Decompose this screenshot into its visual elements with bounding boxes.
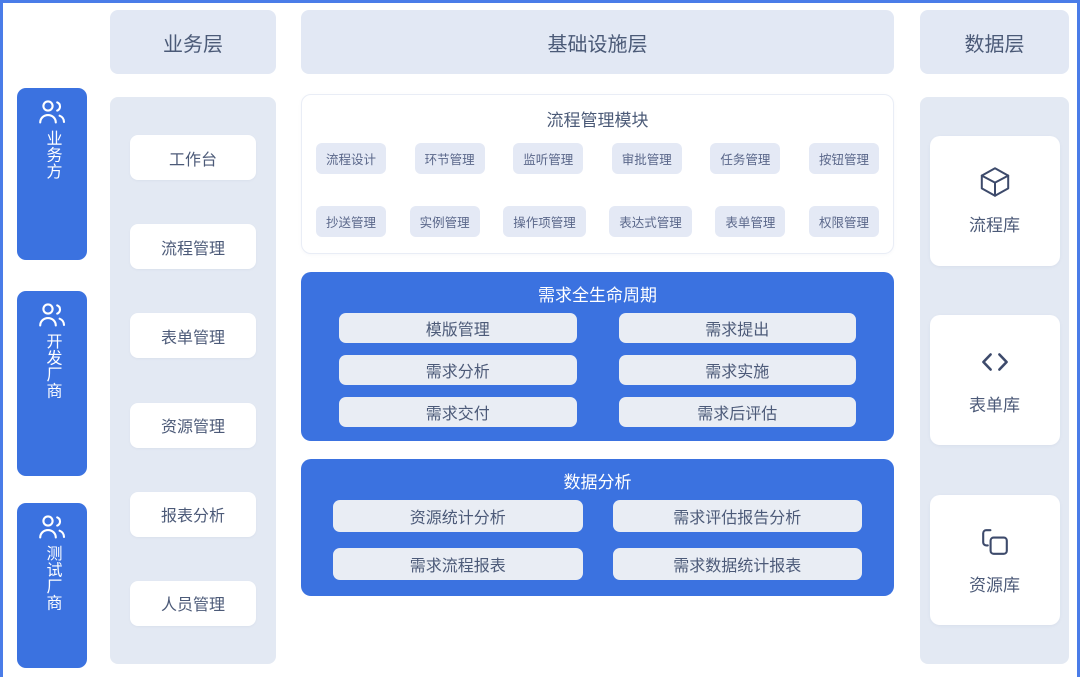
data-analysis-title: 数据分析 (333, 468, 862, 493)
users-icon (37, 514, 67, 540)
requirement-lifecycle-items: 模版管理 需求提出 需求分析 需求实施 需求交付 需求后评估 (339, 313, 856, 427)
process-management-module-title: 流程管理模块 (316, 106, 879, 131)
chip-approval-management[interactable]: 审批管理 (612, 143, 682, 174)
business-layer-items: 工作台 流程管理 表单管理 资源管理 报表分析 人员管理 (110, 97, 276, 664)
architecture-diagram: 业务方 开发厂商 测试厂商 (0, 0, 1080, 677)
lifecycle-item-requirement-delivery[interactable]: 需求交付 (339, 397, 577, 427)
data-analysis-items: 资源统计分析 需求评估报告分析 需求流程报表 需求数据统计报表 (333, 500, 862, 580)
chip-form-management[interactable]: 表单管理 (715, 206, 785, 237)
lifecycle-item-label: 需求提出 (705, 316, 769, 340)
business-item-form-management[interactable]: 表单管理 (130, 313, 256, 358)
data-item-form-repository[interactable]: 表单库 (930, 315, 1060, 445)
actor-label: 业务方 (41, 130, 62, 180)
requirement-lifecycle-panel: 需求全生命周期 模版管理 需求提出 需求分析 需求实施 需求交付 (301, 272, 894, 441)
data-item-label: 资源库 (969, 571, 1020, 596)
data-layer-header: 数据层 (920, 10, 1069, 74)
chip-expression-management[interactable]: 表达式管理 (609, 206, 692, 237)
business-layer-header: 业务层 (110, 10, 276, 74)
data-item-label: 表单库 (969, 391, 1020, 416)
analysis-item-label: 资源统计分析 (410, 504, 506, 528)
business-item-process-management[interactable]: 流程管理 (130, 224, 256, 269)
business-item-label: 人员管理 (161, 591, 225, 615)
chip-listener-management[interactable]: 监听管理 (513, 143, 583, 174)
actor-label: 测试厂商 (41, 545, 62, 611)
chip-node-management[interactable]: 环节管理 (415, 143, 485, 174)
infrastructure-layer-header: 基础设施层 (301, 10, 894, 74)
infrastructure-layer-column: 基础设施层 流程管理模块 流程设计 环节管理 监听管理 审批管理 任务管理 按钮… (283, 3, 912, 677)
lifecycle-item-requirement-implementation[interactable]: 需求实施 (619, 355, 857, 385)
business-item-label: 工作台 (169, 146, 217, 170)
analysis-item-label: 需求流程报表 (410, 552, 506, 576)
lifecycle-item-label: 模版管理 (426, 316, 490, 340)
chip-instance-management[interactable]: 实例管理 (410, 206, 480, 237)
lifecycle-item-requirement-analysis[interactable]: 需求分析 (339, 355, 577, 385)
actor-card-dev-vendor[interactable]: 开发厂商 (17, 291, 87, 476)
infrastructure-layer-body: 流程管理模块 流程设计 环节管理 监听管理 审批管理 任务管理 按钮管理 抄送管… (301, 74, 894, 677)
chip-process-design[interactable]: 流程设计 (316, 143, 386, 174)
actor-card-test-vendor[interactable]: 测试厂商 (17, 503, 87, 668)
analysis-item-requirement-evaluation-report[interactable]: 需求评估报告分析 (613, 500, 863, 532)
business-layer-column: 业务层 工作台 流程管理 表单管理 资源管理 报表分析 人员管理 (103, 3, 283, 677)
lifecycle-item-label: 需求实施 (705, 358, 769, 382)
actor-rail: 业务方 开发厂商 测试厂商 (3, 3, 103, 677)
data-layer-items: 流程库 表单库 资源库 (920, 97, 1069, 664)
data-item-resource-repository[interactable]: 资源库 (930, 495, 1060, 625)
business-item-label: 表单管理 (161, 324, 225, 348)
business-item-label: 报表分析 (161, 502, 225, 526)
analysis-item-label: 需求评估报告分析 (673, 504, 801, 528)
chip-task-management[interactable]: 任务管理 (710, 143, 780, 174)
chip-operation-item-management[interactable]: 操作项管理 (503, 206, 586, 237)
analysis-item-resource-statistics[interactable]: 资源统计分析 (333, 500, 583, 532)
data-analysis-panel: 数据分析 资源统计分析 需求评估报告分析 需求流程报表 需求数据统计报表 (301, 459, 894, 596)
chip-permission-management[interactable]: 权限管理 (809, 206, 879, 237)
lifecycle-item-label: 需求后评估 (697, 400, 777, 424)
code-brackets-icon (978, 345, 1012, 379)
process-module-chip-row-1: 流程设计 环节管理 监听管理 审批管理 任务管理 按钮管理 (316, 143, 879, 174)
process-management-module-card: 流程管理模块 流程设计 环节管理 监听管理 审批管理 任务管理 按钮管理 抄送管… (301, 94, 894, 254)
lifecycle-item-requirement-proposal[interactable]: 需求提出 (619, 313, 857, 343)
business-item-workbench[interactable]: 工作台 (130, 135, 256, 180)
process-module-chip-row-2: 抄送管理 实例管理 操作项管理 表达式管理 表单管理 权限管理 (316, 206, 879, 237)
users-icon (37, 302, 67, 328)
analysis-item-label: 需求数据统计报表 (673, 552, 801, 576)
business-item-personnel-management[interactable]: 人员管理 (130, 581, 256, 626)
business-item-resource-management[interactable]: 资源管理 (130, 403, 256, 448)
analysis-item-requirement-data-statistics-report[interactable]: 需求数据统计报表 (613, 548, 863, 580)
copy-icon (978, 525, 1012, 559)
users-icon (37, 99, 67, 125)
data-item-process-repository[interactable]: 流程库 (930, 136, 1060, 266)
chip-button-management[interactable]: 按钮管理 (809, 143, 879, 174)
lifecycle-item-post-requirement-evaluation[interactable]: 需求后评估 (619, 397, 857, 427)
chip-cc-management[interactable]: 抄送管理 (316, 206, 386, 237)
data-item-label: 流程库 (969, 211, 1020, 236)
requirement-lifecycle-title: 需求全生命周期 (339, 281, 856, 306)
analysis-item-requirement-process-report[interactable]: 需求流程报表 (333, 548, 583, 580)
cube-icon (978, 165, 1012, 199)
actor-label: 开发厂商 (41, 333, 62, 399)
business-item-report-analysis[interactable]: 报表分析 (130, 492, 256, 537)
business-item-label: 资源管理 (161, 413, 225, 437)
data-layer-column: 数据层 流程库 表单库 (912, 3, 1077, 677)
lifecycle-item-label: 需求分析 (426, 358, 490, 382)
lifecycle-item-template-management[interactable]: 模版管理 (339, 313, 577, 343)
lifecycle-item-label: 需求交付 (426, 400, 490, 424)
actor-card-business-side[interactable]: 业务方 (17, 88, 87, 260)
business-item-label: 流程管理 (161, 235, 225, 259)
